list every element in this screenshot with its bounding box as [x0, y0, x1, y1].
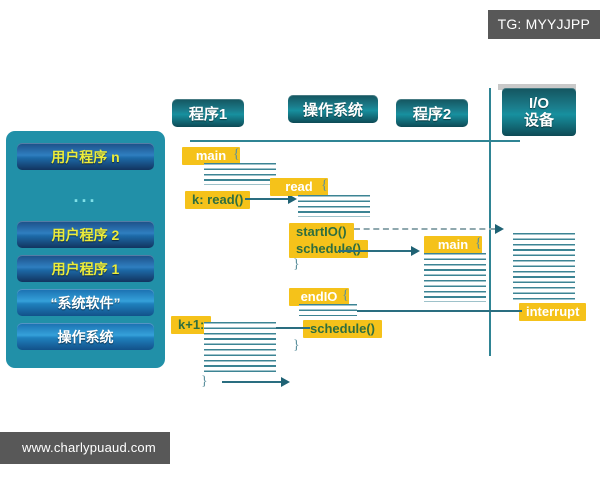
brace-main-1-open: { — [233, 148, 240, 162]
arrow-interrupt-to-endio — [342, 306, 522, 316]
code-block-k-plus-1 — [204, 322, 276, 372]
stack-item-user-program-1[interactable]: 用户程序 1 — [17, 255, 154, 282]
stack-item-user-program-n[interactable]: 用户程序 n — [17, 143, 154, 170]
code-block-main-1 — [204, 163, 276, 185]
brace-startio-close: } — [293, 258, 300, 272]
label-main-2[interactable]: main — [424, 236, 482, 254]
brace-endio-open: { — [342, 289, 349, 303]
tg-watermark-badge: TG: MYYJJPP — [488, 10, 600, 39]
site-url-watermark: www.charlypuaud.com — [0, 432, 170, 464]
column-header-io-device[interactable]: I/O 设备 — [502, 88, 576, 136]
label-interrupt[interactable]: interrupt — [519, 303, 586, 321]
code-block-io-device — [513, 233, 575, 300]
label-startio[interactable]: startIO() — [289, 223, 354, 241]
column-header-program1[interactable]: 程序1 — [172, 99, 244, 127]
diagram-canvas: TG: MYYJJPP www.charlypuaud.com 用户程序 n .… — [0, 0, 600, 480]
brace-schedule-close: } — [293, 339, 300, 353]
io-header-line2: 设备 — [524, 112, 554, 129]
code-block-endio — [299, 304, 357, 316]
brace-kplus1-close: } — [201, 375, 208, 389]
software-stack-panel: 用户程序 n ... 用户程序 2 用户程序 1 “系统软件” 操作系统 — [6, 131, 165, 368]
top-horizontal-divider — [190, 140, 520, 142]
brace-read-open: { — [321, 179, 328, 193]
label-schedule-2[interactable]: schedule() — [303, 320, 382, 338]
label-k-read[interactable]: k: read() — [185, 191, 250, 209]
code-block-main-2 — [424, 253, 486, 302]
code-block-read — [298, 195, 370, 217]
stack-item-user-program-2[interactable]: 用户程序 2 — [17, 221, 154, 248]
column-header-operating-system[interactable]: 操作系统 — [288, 95, 378, 123]
io-header-line1: I/O — [529, 95, 549, 112]
stack-item-operating-system[interactable]: 操作系统 — [17, 323, 154, 350]
arrow-startio-to-io-device — [354, 224, 504, 234]
arrow-program1-exit — [222, 377, 290, 387]
label-read[interactable]: read — [270, 178, 328, 196]
column-header-program2[interactable]: 程序2 — [396, 99, 468, 127]
stack-ellipsis: ... — [17, 183, 154, 209]
arrow-schedule-to-program2 — [338, 246, 420, 256]
brace-main-2-open: { — [475, 237, 482, 251]
stack-item-system-software[interactable]: “系统软件” — [17, 289, 154, 316]
